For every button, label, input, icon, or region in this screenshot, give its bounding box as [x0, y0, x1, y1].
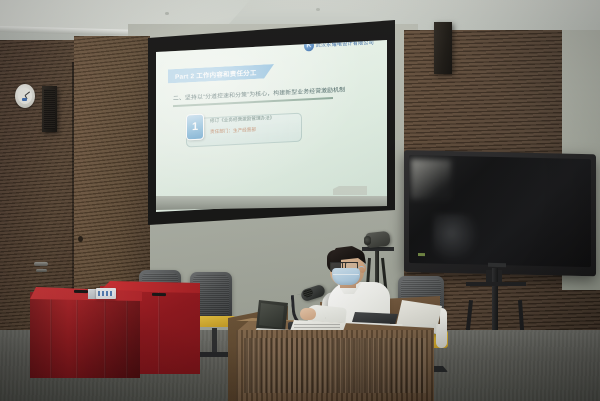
face-mask-fold	[333, 274, 359, 275]
podium-front-slats	[244, 338, 426, 393]
tv-room-reflection	[433, 214, 479, 263]
ceiling-light-dot	[316, 8, 320, 11]
pen-on-table	[152, 293, 166, 296]
laptop-display	[259, 303, 284, 328]
tripod-plate	[362, 247, 394, 251]
wall-clock	[15, 84, 35, 108]
tv-power-led	[418, 253, 425, 256]
pen-on-table	[74, 290, 88, 293]
screen-bottom-tab	[333, 186, 367, 195]
tv-brand-logo	[488, 263, 506, 267]
wall-knob	[78, 236, 83, 242]
binder	[352, 312, 398, 324]
right-wall-speaker	[434, 22, 452, 74]
door-handle[interactable]	[34, 262, 48, 266]
ballot-box-label	[98, 291, 114, 296]
face-mask-strap	[358, 266, 365, 271]
speaker-grill	[44, 89, 55, 129]
left-wall-speaker	[42, 86, 57, 132]
camera-lens-icon	[364, 236, 371, 245]
tv-glare-reflection	[411, 159, 451, 200]
clock-badge	[22, 98, 27, 101]
table-shading	[30, 292, 140, 378]
face-mask	[332, 268, 360, 285]
flat-screen-tv	[409, 155, 591, 267]
door-handle-lower[interactable]	[36, 269, 47, 272]
ceiling-light-dot	[165, 12, 169, 15]
chair-post	[212, 328, 217, 354]
conference-room-photo: K 武汉永耀电设计有限公司 Part 2 工作内容和责任分工 二、坚持以“分道控…	[0, 0, 600, 401]
tv-stand-crossbar	[466, 282, 526, 286]
